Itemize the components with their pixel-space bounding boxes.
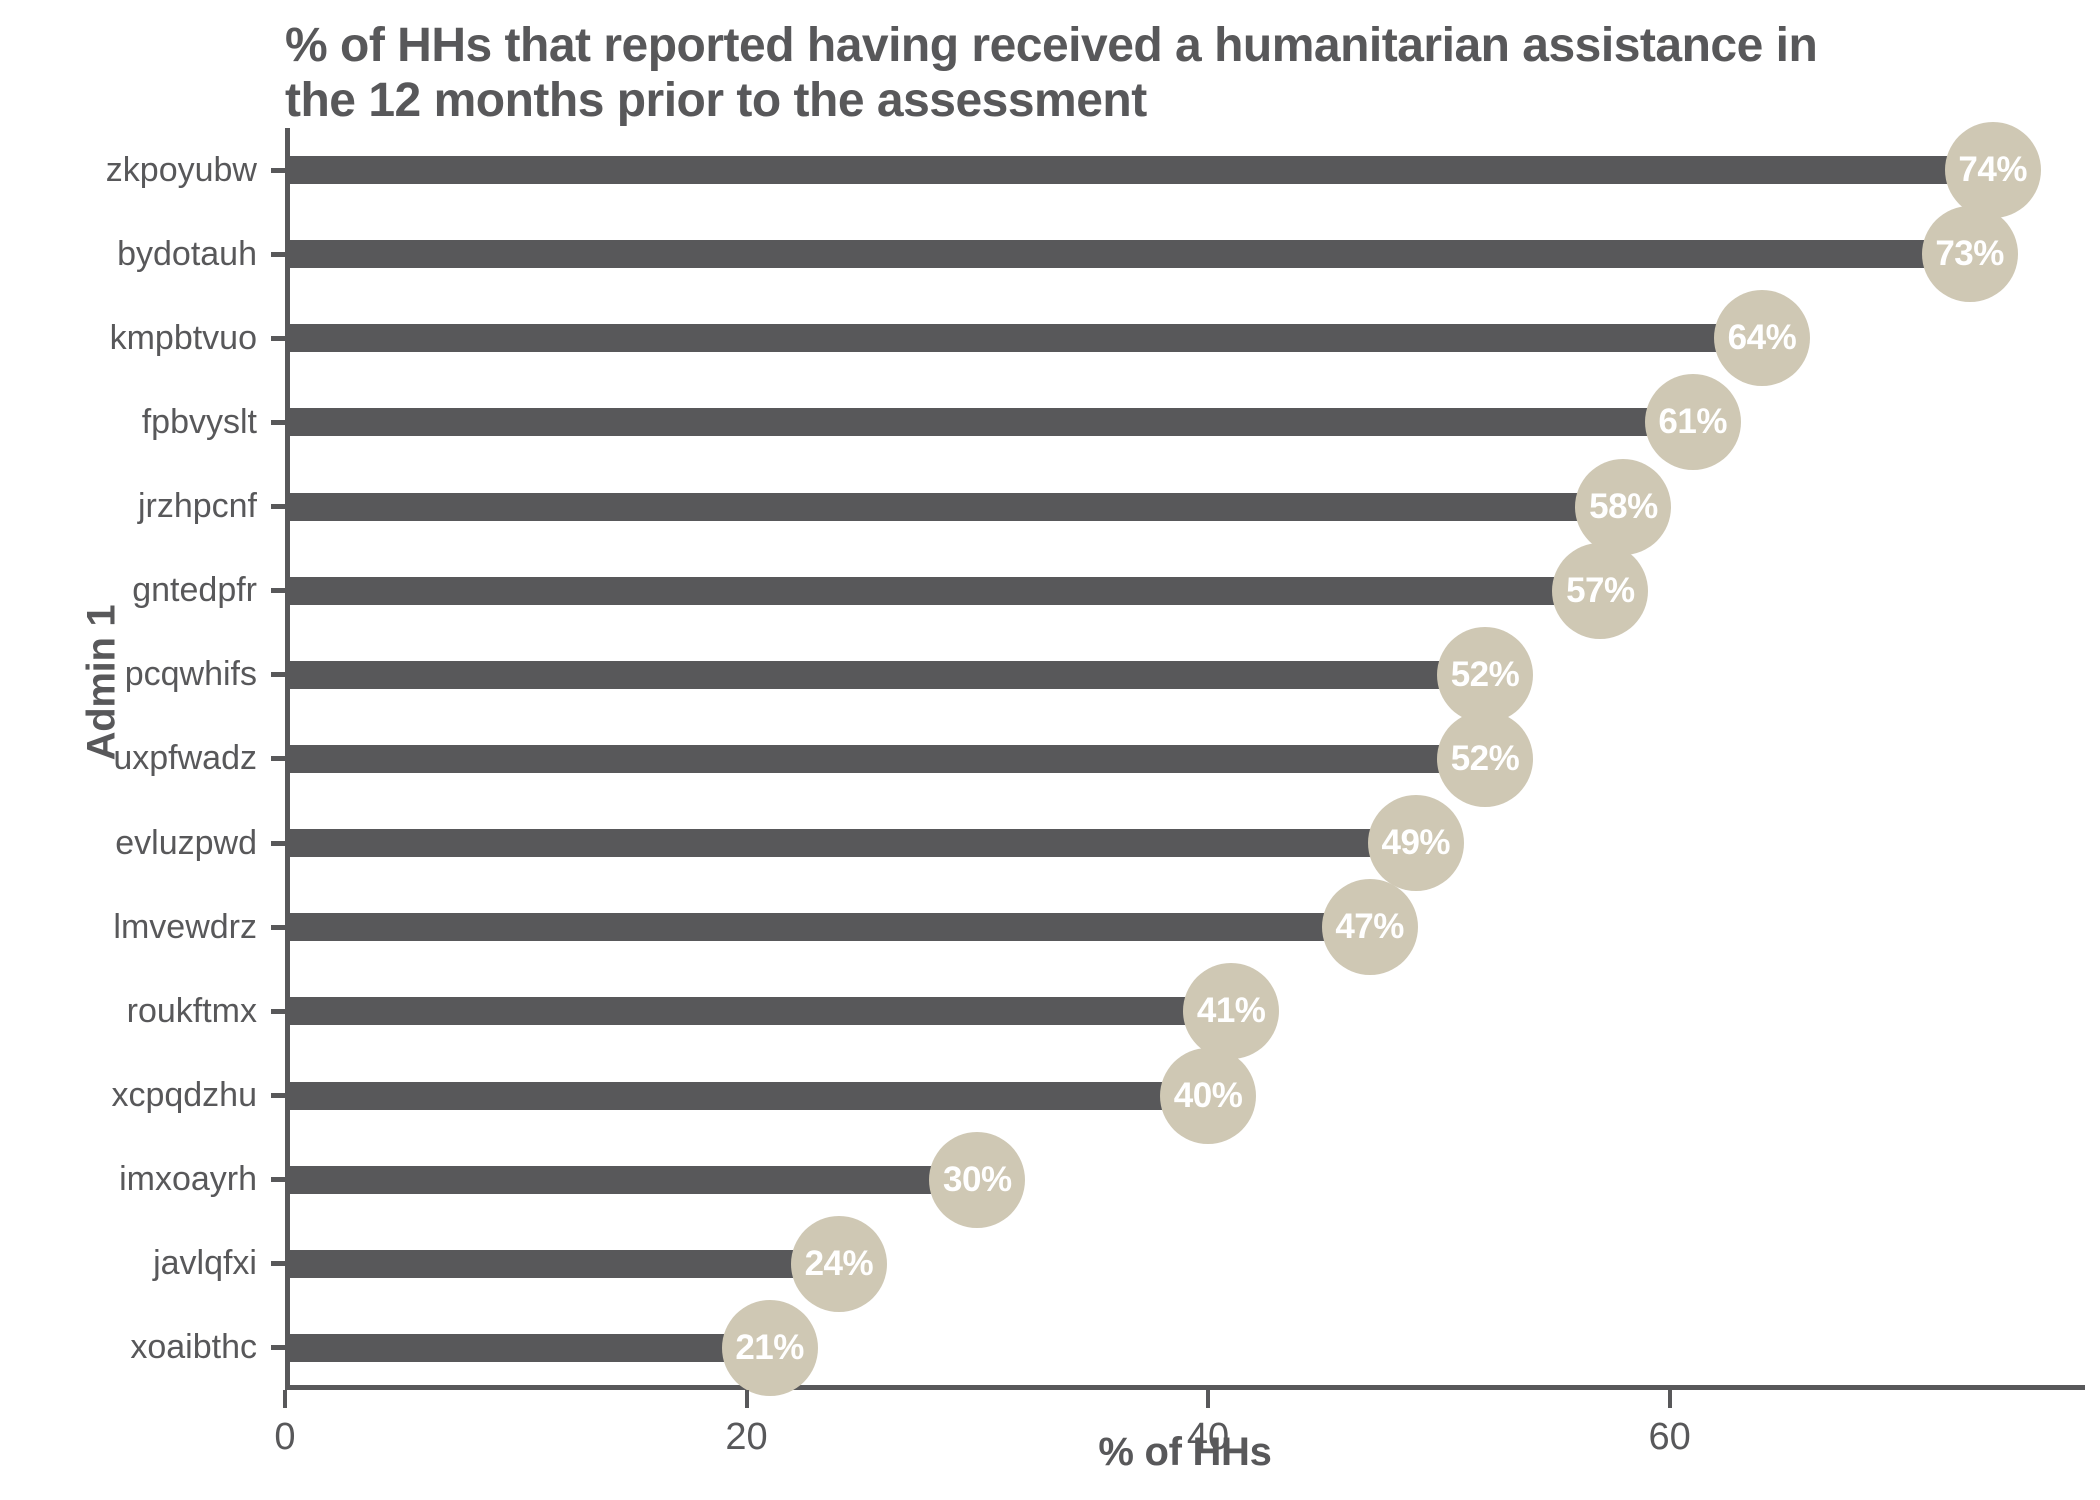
value-marker[interactable]: 47%	[1322, 879, 1418, 975]
y-axis-title: Admin 1	[80, 533, 125, 833]
chart-title: % of HHs that reported having received a…	[285, 18, 1845, 128]
value-marker[interactable]: 49%	[1368, 795, 1464, 891]
bar[interactable]	[285, 156, 1993, 184]
y-axis-label: jrzhpcnf	[0, 465, 257, 549]
y-axis-label: evluzpwd	[0, 801, 257, 885]
y-axis-tick	[271, 588, 285, 593]
bar[interactable]	[285, 913, 1370, 941]
bar[interactable]	[285, 1250, 839, 1278]
bar-row: 40%	[285, 1053, 2085, 1137]
y-axis-label: roukftmx	[0, 969, 257, 1053]
y-axis-tick	[271, 420, 285, 425]
bar[interactable]	[285, 408, 1693, 436]
bar[interactable]	[285, 1166, 977, 1194]
y-axis-label: bydotauh	[0, 212, 257, 296]
y-axis-tick	[271, 925, 285, 930]
y-axis-tick	[271, 1177, 285, 1182]
bar-row: 52%	[285, 717, 2085, 801]
bar[interactable]	[285, 745, 1485, 773]
y-axis-tick	[271, 252, 285, 257]
value-marker[interactable]: 41%	[1183, 963, 1279, 1059]
value-marker[interactable]: 73%	[1922, 206, 2018, 302]
bar-row: 58%	[285, 465, 2085, 549]
value-marker[interactable]: 21%	[722, 1300, 818, 1396]
value-marker[interactable]: 24%	[791, 1216, 887, 1312]
y-axis-label: fpbvyslt	[0, 380, 257, 464]
bar-row: 24%	[285, 1222, 2085, 1306]
x-axis-tick	[1668, 1390, 1672, 1408]
bar-row: 74%	[285, 128, 2085, 212]
y-axis-tick	[271, 756, 285, 761]
y-axis-tick	[271, 1093, 285, 1098]
x-axis-tick	[283, 1390, 287, 1408]
y-axis-tick	[271, 504, 285, 509]
bar[interactable]	[285, 661, 1485, 689]
bar[interactable]	[285, 493, 1623, 521]
y-axis-label: uxpfwadz	[0, 717, 257, 801]
bar-row: 47%	[285, 885, 2085, 969]
y-axis-tick	[271, 336, 285, 341]
x-axis-tick	[1206, 1390, 1210, 1408]
y-axis-label: xcpqdzhu	[0, 1053, 257, 1137]
y-axis-label: imxoayrh	[0, 1138, 257, 1222]
bar-row: 64%	[285, 296, 2085, 380]
bar-row: 61%	[285, 380, 2085, 464]
y-axis-label: lmvewdrz	[0, 885, 257, 969]
plot-area: 74%73%64%61%58%57%52%52%49%47%41%40%30%2…	[285, 128, 2085, 1390]
y-axis-tick	[271, 1009, 285, 1014]
bar[interactable]	[285, 240, 1970, 268]
bar-row: 21%	[285, 1306, 2085, 1390]
bar[interactable]	[285, 829, 1416, 857]
value-marker[interactable]: 58%	[1575, 459, 1671, 555]
bar[interactable]	[285, 997, 1231, 1025]
bar[interactable]	[285, 577, 1600, 605]
bar-row: 30%	[285, 1138, 2085, 1222]
y-axis-label: kmpbtvuo	[0, 296, 257, 380]
y-axis-label: javlqfxi	[0, 1222, 257, 1306]
y-axis-tick	[271, 168, 285, 173]
bar-row: 73%	[285, 212, 2085, 296]
value-marker[interactable]: 52%	[1437, 627, 1533, 723]
bar-row: 49%	[285, 801, 2085, 885]
value-marker[interactable]: 74%	[1945, 122, 2041, 218]
x-axis-title: % of HHs	[285, 1430, 2085, 1475]
y-axis-tick	[271, 841, 285, 846]
bar-row: 41%	[285, 969, 2085, 1053]
bar[interactable]	[285, 324, 1762, 352]
bar[interactable]	[285, 1082, 1208, 1110]
y-axis-label: gntedpfr	[0, 549, 257, 633]
y-axis-tick-labels: zkpoyubwbydotauhkmpbtvuofpbvysltjrzhpcnf…	[0, 128, 275, 1390]
y-axis-label: pcqwhifs	[0, 633, 257, 717]
y-axis-label: zkpoyubw	[0, 128, 257, 212]
bar-row: 57%	[285, 549, 2085, 633]
chart-canvas: % of HHs that reported having received a…	[0, 0, 2100, 1500]
y-axis-tick	[271, 1261, 285, 1266]
value-marker[interactable]: 52%	[1437, 711, 1533, 807]
y-axis-tick	[271, 1345, 285, 1350]
x-axis-tick	[745, 1390, 749, 1408]
y-axis-tick	[271, 672, 285, 677]
value-marker[interactable]: 57%	[1552, 543, 1648, 639]
value-marker[interactable]: 64%	[1714, 290, 1810, 386]
value-marker[interactable]: 61%	[1645, 374, 1741, 470]
bar[interactable]	[285, 1334, 770, 1362]
value-marker[interactable]: 40%	[1160, 1048, 1256, 1144]
bar-row: 52%	[285, 633, 2085, 717]
y-axis-label: xoaibthc	[0, 1306, 257, 1390]
value-marker[interactable]: 30%	[929, 1132, 1025, 1228]
